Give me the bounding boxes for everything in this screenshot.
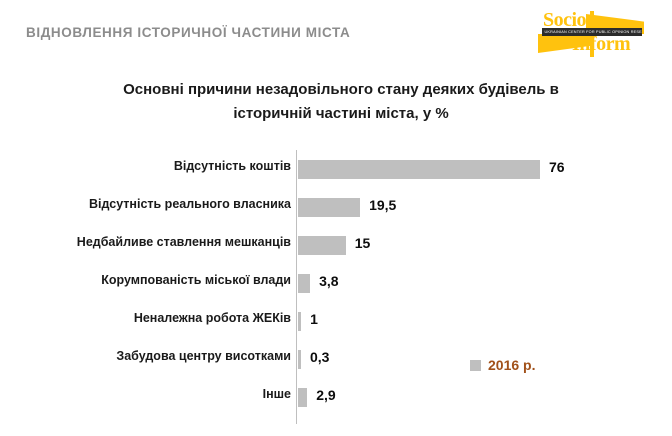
bar-row: Корумпованість міської влади3,8	[0, 264, 672, 302]
socioinform-logo: Socio UKRAINIAN CENTER FOR PUBLIC OPINIO…	[536, 11, 646, 59]
bar	[298, 274, 310, 293]
bar-row: Відсутність коштів76	[0, 150, 672, 188]
bar-value-label: 15	[355, 235, 371, 251]
bar-category-label: Неналежна робота ЖЕКів	[134, 311, 291, 325]
bar-row: Забудова центру висотками0,3	[0, 340, 672, 378]
bar	[298, 236, 346, 255]
page-title: ВІДНОВЛЕННЯ ІСТОРИЧНОЇ ЧАСТИНИ МІСТА	[26, 25, 350, 40]
logo-inform-text: Inform	[572, 33, 630, 56]
bar-value-label: 3,8	[319, 273, 338, 289]
bar	[298, 312, 301, 331]
bar-category-label: Інше	[263, 387, 291, 401]
bar	[298, 388, 307, 407]
bar-value-label: 19,5	[369, 197, 396, 213]
bar-category-label: Забудова центру висотками	[116, 349, 291, 363]
slide-header: ВІДНОВЛЕННЯ ІСТОРИЧНОЇ ЧАСТИНИ МІСТА Soc…	[0, 0, 672, 66]
legend-swatch-icon	[470, 360, 481, 371]
bar	[298, 160, 540, 179]
chart-area: Основні причини незадовільного стану дея…	[0, 66, 672, 436]
bar-row: Недбайливе ставлення мешканців15	[0, 226, 672, 264]
bar-value-label: 0,3	[310, 349, 329, 365]
bar-row: Неналежна робота ЖЕКів1	[0, 302, 672, 340]
chart-title: Основні причини незадовільного стану дея…	[106, 78, 576, 126]
bar-category-label: Корумпованість міської влади	[101, 273, 291, 287]
bar	[298, 350, 301, 369]
bar-row: Відсутність реального власника19,5	[0, 188, 672, 226]
bar-value-label: 2,9	[316, 387, 335, 403]
bar-value-label: 1	[310, 311, 318, 327]
legend-label: 2016 р.	[488, 357, 535, 373]
bar	[298, 198, 360, 217]
bar-value-label: 76	[549, 159, 565, 175]
bar-row: Інше2,9	[0, 378, 672, 416]
chart-plot: Відсутність коштів76Відсутність реальног…	[0, 148, 672, 428]
bar-category-label: Відсутність реального власника	[89, 197, 291, 211]
bar-category-label: Недбайливе ставлення мешканців	[77, 235, 291, 249]
chart-legend: 2016 р.	[470, 357, 535, 373]
bar-category-label: Відсутність коштів	[174, 159, 291, 173]
